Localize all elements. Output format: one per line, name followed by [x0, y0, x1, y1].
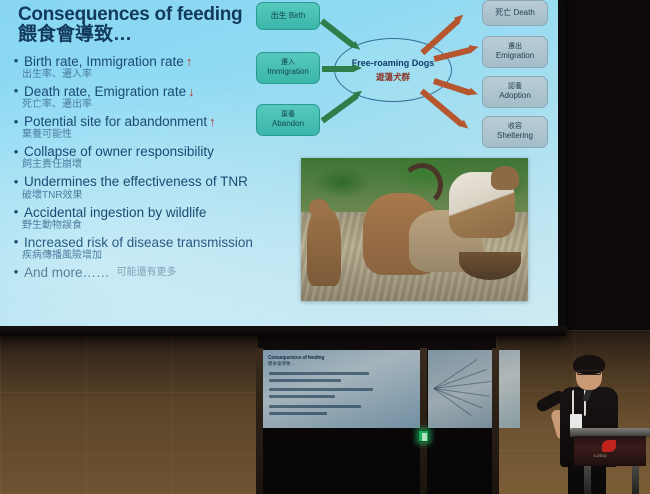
bullet-text-en: Birth rate, Immigration rate: [24, 54, 184, 69]
slide-title-zh: 餵食會導致…: [18, 25, 242, 45]
diagram-node-emigration: 遷出 Emigration: [482, 36, 548, 68]
bullet-text-zh: 野生動物誤食: [22, 220, 300, 232]
diagram-node-abandon: 棄養 Abandon: [256, 104, 320, 136]
wall-panel-left: [0, 330, 262, 494]
bullet-text-en: And more……: [24, 265, 110, 280]
bullet-text-en: Accidental ingestion by wildlife: [24, 205, 206, 220]
projection-screen: Consequences of feeding 餵食會導致… • Birth r…: [0, 0, 558, 326]
bullet-item: • Undermines the effectiveness of TNR 破壞…: [10, 174, 300, 201]
node-label-zh: 遷出: [508, 43, 522, 52]
node-label-en: Sheltering: [497, 131, 533, 141]
node-label-zh: 認養: [508, 83, 522, 92]
flow-arrow-immigration-in: [322, 64, 362, 73]
podium-front-panel: LOGO: [574, 436, 646, 466]
node-label-zh: 收容: [508, 123, 522, 132]
projection-screen-frame: Consequences of feeding 餵食會導致… • Birth r…: [0, 0, 566, 336]
diagram-node-adoption: 認養 Adoption: [482, 76, 548, 108]
bullet-text-en: Increased risk of disease transmission: [24, 235, 253, 250]
node-label-en: Immigration: [267, 67, 309, 77]
bullet-text-zh: 疾病傳播風險增加: [22, 250, 300, 262]
node-label: 死亡 Death: [495, 8, 535, 18]
arrow-up-icon: ↑: [186, 55, 193, 68]
flow-arrow-abandon-in: [319, 87, 365, 124]
screen-bottom-bar: [0, 326, 566, 336]
bullet-marker: •: [10, 84, 22, 99]
slide-title: Consequences of feeding 餵食會導致…: [18, 5, 242, 45]
confidence-monitor-subtitle: 餵食會導致…: [268, 361, 295, 367]
bullet-text-zh: 飼主責任崩壞: [22, 159, 300, 171]
free-roaming-dogs-photo: [301, 158, 528, 301]
diagram-node-birth: 出生 Birth: [256, 2, 320, 30]
bullet-marker: •: [10, 54, 22, 69]
bullet-marker: •: [10, 175, 22, 190]
bullet-marker: •: [10, 205, 22, 220]
arrow-down-icon: ↓: [188, 85, 195, 98]
bullet-text-en: Death rate, Emigration rate: [24, 84, 186, 99]
node-label-en: Emigration: [496, 51, 534, 61]
dog-figure: [449, 172, 515, 238]
bullet-marker: •: [10, 145, 22, 160]
exit-sign-icon: [418, 430, 429, 442]
lectern-podium: LOGO: [570, 428, 650, 494]
confidence-monitor-left: Consequences of feeding 餵食會導致…: [262, 350, 422, 428]
center-label-zh: 遊蕩犬群: [376, 71, 410, 83]
diagram-node-death: 死亡 Death: [482, 0, 548, 26]
podium-leg: [584, 466, 591, 494]
flow-arrow-birth-in: [319, 17, 362, 54]
door-mullion-3: [492, 348, 499, 494]
center-label-en: Free-roaming Dogs: [352, 58, 435, 68]
arrow-up-icon: ↑: [209, 115, 216, 128]
bullet-item: • Increased risk of disease transmission…: [10, 235, 300, 262]
node-label-zh: 遷入: [281, 59, 295, 68]
bullet-text-zh: 可能還有更多: [117, 267, 177, 279]
slide-title-en: Consequences of feeding: [18, 4, 242, 25]
dog-figure: [307, 208, 341, 286]
node-label-zh: 棄養: [281, 111, 295, 120]
confidence-monitor-right: [428, 350, 520, 428]
bullet-text-zh: 破壞TNR效果: [22, 190, 300, 202]
bullet-item: • Accidental ingestion by wildlife 野生動物誤…: [10, 205, 300, 232]
bullet-text-en: Collapse of owner responsibility: [24, 144, 214, 159]
diagram-node-sheltering: 收容 Sheltering: [482, 116, 548, 148]
node-label-en: Adoption: [499, 91, 531, 101]
wall-panel-grid-left: [0, 330, 262, 494]
flow-arrow-emigration-out: [433, 43, 480, 63]
door-mullion-1: [256, 348, 263, 494]
bullet-marker: •: [10, 235, 22, 250]
bullet-text-en: Undermines the effectiveness of TNR: [24, 174, 248, 189]
glasses-icon: [577, 370, 601, 375]
bullet-text-en: Potential site for abandonment: [24, 114, 207, 129]
bullet-marker: •: [10, 265, 22, 280]
node-label-en: Abandon: [272, 119, 304, 129]
diagram-node-immigration: 遷入 Immigration: [256, 52, 320, 84]
podium-logo-icon: [602, 440, 616, 452]
podium-leg: [632, 466, 639, 494]
podium-logo-text: LOGO: [594, 453, 607, 458]
node-label: 出生 Birth: [271, 11, 306, 21]
bullet-item: • And more…… 可能還有更多: [10, 265, 300, 280]
population-flow-diagram: 出生 Birth 遷入 Immigration 棄養 Abandon 死亡 De…: [254, 0, 554, 156]
door-mullion-2: [420, 348, 427, 494]
bullet-marker: •: [10, 115, 22, 130]
